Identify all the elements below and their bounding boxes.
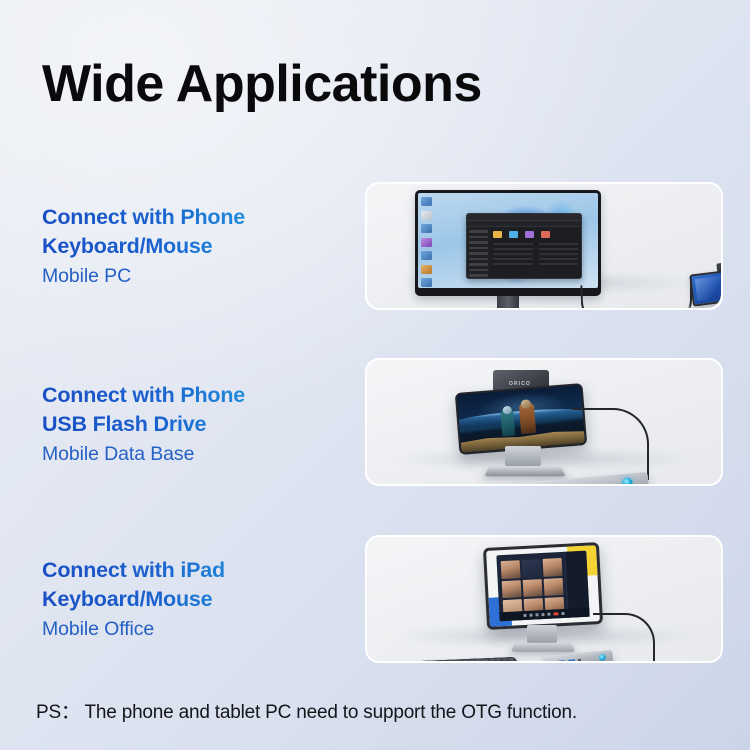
feature-image-card-1: [365, 182, 723, 310]
monitor-bezel: [415, 190, 601, 296]
explorer-folder-icons: [493, 231, 578, 238]
stand-base: [484, 466, 566, 476]
feature-1-headline-line1: Connect with Phone: [42, 203, 342, 232]
participant-tile: [502, 580, 522, 599]
feature-2-headline-line1: Connect with Phone: [42, 381, 342, 410]
stand-arm: [505, 446, 541, 466]
feature-image-card-3: [365, 535, 723, 663]
explorer-file-rows: [493, 243, 578, 268]
feature-3-headline-line1: Connect with iPad: [42, 556, 342, 585]
feature-2-subtitle: Mobile Data Base: [42, 440, 342, 468]
space-scene-wallpaper: [457, 385, 585, 453]
ipad: [483, 542, 603, 630]
tablet-stand-arm: [527, 625, 557, 643]
desktop-icons: [421, 197, 434, 288]
keyboard: [390, 657, 523, 661]
feature-3-headline-line2: Keyboard/Mouse: [42, 585, 342, 614]
ipad-screen: [486, 545, 600, 627]
participant-tile: [544, 578, 564, 597]
tablet-stand-base: [511, 643, 575, 652]
power-led-icon: [598, 654, 606, 661]
participant-tile: [543, 558, 563, 577]
feature-1-subtitle: Mobile PC: [42, 262, 342, 290]
monitor-screen: [418, 193, 598, 288]
astronaut-left: [500, 410, 515, 437]
phone-landscape: [455, 383, 587, 455]
feature-text-3: Connect with iPad Keyboard/Mouse Mobile …: [42, 556, 342, 643]
scene-phone-flash-drive: ORICO: [367, 300, 721, 484]
participant-tile: [501, 560, 521, 579]
participant-tile: [523, 579, 543, 598]
brand-logo: ORICO: [509, 381, 531, 387]
explorer-content: [490, 227, 581, 278]
monitor: [415, 190, 601, 296]
feature-1-headline-line2: Keyboard/Mouse: [42, 232, 342, 261]
file-explorer-window: [466, 213, 582, 279]
usb-c-cable: [573, 408, 649, 480]
explorer-titlebar: [467, 214, 581, 221]
feature-text-1: Connect with Phone Keyboard/Mouse Mobile…: [42, 203, 342, 290]
explorer-body: [467, 227, 581, 278]
feature-text-2: Connect with Phone USB Flash Drive Mobil…: [42, 381, 342, 468]
participant-tile: [522, 559, 542, 578]
footer-note: PS： The phone and tablet PC need to supp…: [36, 697, 577, 724]
explorer-sidebar: [467, 227, 490, 278]
page-title: Wide Applications: [42, 57, 482, 112]
feature-3-subtitle: Mobile Office: [42, 615, 342, 643]
astronaut-right: [519, 403, 536, 434]
end-call-icon: [554, 612, 559, 615]
feature-2-headline-line2: USB Flash Drive: [42, 410, 342, 439]
scene-ipad-office: [367, 477, 721, 661]
scene-desktop-setup: [367, 124, 721, 308]
feature-image-card-2: ORICO: [365, 358, 723, 486]
